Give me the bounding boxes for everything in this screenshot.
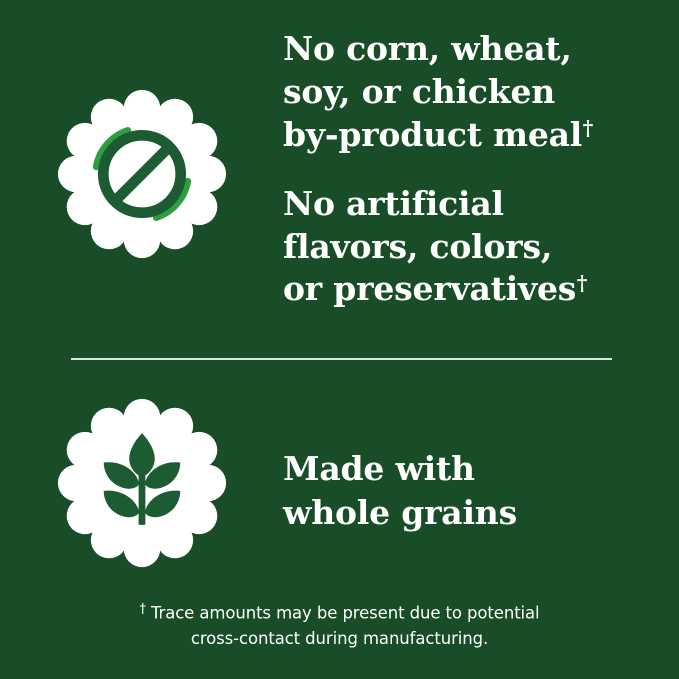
claim-line: Made with [283,449,475,488]
claim-line: flavors, colors, [283,227,552,266]
claim-line: No artificial [283,184,504,223]
prohibition-sign-icon [53,85,231,263]
claim-line: No corn, wheat, [283,29,572,68]
product-claims-infographic: No corn, wheat, soy, or chicken by-produ… [0,0,679,679]
feature-row-whole-grains: Made with whole grains [0,392,679,572]
claim-line: by-product meal [283,115,582,154]
claim-line: whole grains [283,493,517,532]
badge-cell-whole-grains [0,392,283,572]
footnote-dagger-marker: † [583,116,594,140]
claim-headline-no-artificial-flavors-colors-preservatives: No artificial flavors, colors, or preser… [283,183,667,312]
claims-text-whole-grains: Made with whole grains [283,392,679,535]
footnote-line-1: † Trace amounts may be present due to po… [0,600,679,626]
claim-line: or preservatives [283,269,576,308]
badge-cell-no-ingredients [0,28,283,263]
claim-line: soy, or chicken [283,72,555,111]
footnote-line-2: cross-contact during manufacturing. [0,626,679,652]
footnote-disclaimer: † Trace amounts may be present due to po… [0,600,679,653]
claim-headline-made-with-whole-grains: Made with whole grains [283,392,667,535]
footnote-text: Trace amounts may be present due to pote… [151,603,540,622]
footnote-dagger-marker: † [577,271,588,295]
feature-row-no-ingredients: No corn, wheat, soy, or chicken by-produ… [0,28,679,311]
grain-plant-icon [53,394,231,572]
section-divider [71,358,612,360]
claim-headline-no-corn-wheat-soy-chicken: No corn, wheat, soy, or chicken by-produ… [283,28,667,157]
claims-text-no-ingredients: No corn, wheat, soy, or chicken by-produ… [283,28,679,311]
footnote-dagger-marker: † [139,602,145,617]
